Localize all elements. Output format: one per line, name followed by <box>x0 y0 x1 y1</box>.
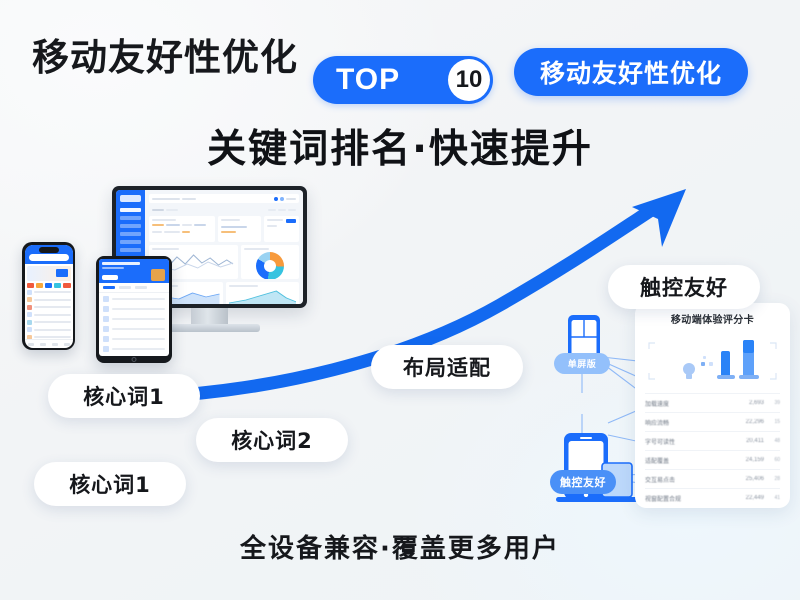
table-row: 响应流畅 22,296 15 <box>645 412 780 431</box>
touch-friendly-mini-pill[interactable]: 触控友好 <box>550 470 616 494</box>
row-value: 22,449 <box>738 495 764 501</box>
bar-chart-icon <box>645 331 780 389</box>
row-percent: 28 <box>764 476 780 482</box>
row-name: 交互易点击 <box>645 475 738 484</box>
row-name: 视窗配置合规 <box>645 494 738 503</box>
row-percent: 60 <box>764 457 780 463</box>
row-name: 加载速度 <box>645 399 738 408</box>
phone-mockup <box>22 242 75 350</box>
donut-chart-icon <box>256 252 284 279</box>
device-cluster <box>22 186 342 396</box>
row-name: 字号可读性 <box>645 437 738 446</box>
footer-caption: 全设备兼容·覆盖更多用户 <box>0 528 800 565</box>
row-percent: 41 <box>764 495 780 501</box>
row-value: 24,159 <box>738 457 764 463</box>
table-row: 字号可读性 20,411 48 <box>645 431 780 450</box>
page-subtitle: 关键词排名·快速提升 <box>0 118 800 174</box>
header: 移动友好性优化 TOP 10 移动友好性优化 关键词排名·快速提升 <box>0 0 800 180</box>
keyword-pill-3[interactable]: 核心词1 <box>34 462 186 506</box>
row-value: 2,693 <box>738 400 764 406</box>
phone-notch <box>39 247 59 253</box>
row-percent: 48 <box>764 438 780 444</box>
touch-friendly-pill[interactable]: 触控友好 <box>608 265 760 309</box>
row-percent: 39 <box>764 400 780 406</box>
keyword-pill-1[interactable]: 核心词1 <box>48 374 200 418</box>
top-badge-word: TOP <box>336 63 400 97</box>
layout-adaptation-pill[interactable]: 布局适配 <box>371 345 523 389</box>
touch-friendly-panel: 触控友好 <box>540 265 790 515</box>
row-name: 响应流畅 <box>645 418 738 427</box>
tablet-banner <box>99 259 169 283</box>
score-card-rows: 加载速度 2,693 39 响应流畅 22,296 15 字号可读性 20,41… <box>635 393 790 507</box>
row-value: 25,406 <box>738 476 764 482</box>
table-row: 加载速度 2,693 39 <box>645 393 780 412</box>
top-badge-number: 10 <box>448 59 490 101</box>
phone-search-bar <box>29 254 69 261</box>
monitor-stand-base <box>159 324 260 332</box>
score-card-chart <box>645 331 780 389</box>
top-rank-badge: TOP 10 <box>313 56 493 104</box>
mobile-score-card: 移动端体验评分卡 加载速度 2, <box>635 303 790 508</box>
tablet-mockup <box>96 256 172 363</box>
row-name: 适配覆盖 <box>645 456 738 465</box>
header-blue-pill: 移动友好性优化 <box>514 48 748 96</box>
phone-tab-bar <box>25 339 73 348</box>
area-chart-icon <box>229 289 297 304</box>
keyword-pill-2[interactable]: 核心词2 <box>196 418 348 462</box>
row-value: 22,296 <box>738 419 764 425</box>
table-row: 交互易点击 25,406 28 <box>645 469 780 488</box>
tablet-home-button <box>132 357 137 362</box>
table-row: 适配覆盖 24,159 60 <box>645 450 780 469</box>
row-value: 20,411 <box>738 438 764 444</box>
page-title: 移动友好性优化 <box>32 27 298 81</box>
table-row: 视窗配置合规 22,449 41 <box>645 488 780 507</box>
row-percent: 15 <box>764 419 780 425</box>
single-screen-mini-pill[interactable]: 单屏版 <box>554 353 610 374</box>
